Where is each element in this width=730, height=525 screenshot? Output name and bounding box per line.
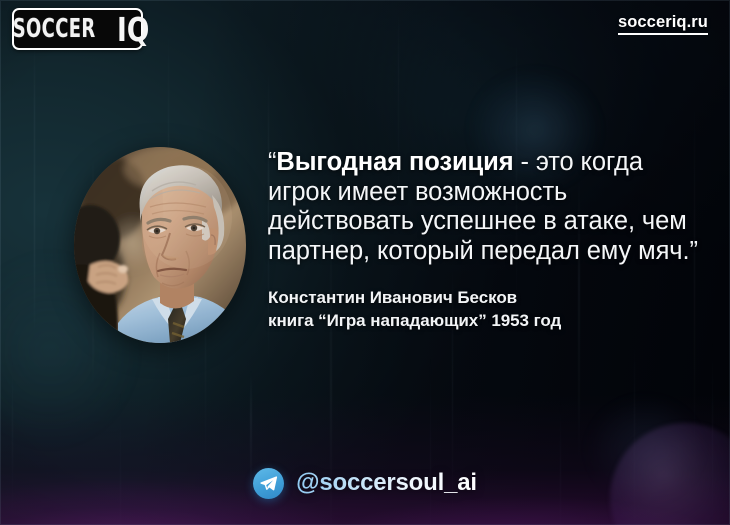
- quote-block: “Выгодная позиция - это когда игрок имее…: [268, 148, 708, 332]
- soccer-iq-logo[interactable]: SOCCER IQ: [12, 8, 143, 50]
- attribution-author: Константин Иванович Бесков: [268, 287, 708, 310]
- attribution-source: книга “Игра нападающих” 1953 год: [268, 310, 708, 333]
- telegram-icon[interactable]: [253, 468, 284, 499]
- logo-text-iq: IQ: [118, 13, 150, 46]
- portrait-illustration: [74, 147, 246, 343]
- quote-text: “Выгодная позиция - это когда игрок имее…: [268, 148, 708, 266]
- telegram-handle[interactable]: @soccersoul_ai: [296, 470, 477, 496]
- author-portrait-avatar: [74, 147, 246, 343]
- attribution: Константин Иванович Бесков книга “Игра н…: [268, 287, 708, 332]
- quote-highlight: Выгодная позиция: [276, 148, 513, 176]
- site-url-link[interactable]: socceriq.ru: [618, 13, 708, 35]
- logo-text-soccer: SOCCER: [13, 16, 96, 42]
- paper-plane-icon: [259, 474, 278, 493]
- telegram-footer[interactable]: @soccersoul_ai: [0, 468, 730, 499]
- quote-poster: SOCCER IQ socceriq.ru: [0, 0, 730, 525]
